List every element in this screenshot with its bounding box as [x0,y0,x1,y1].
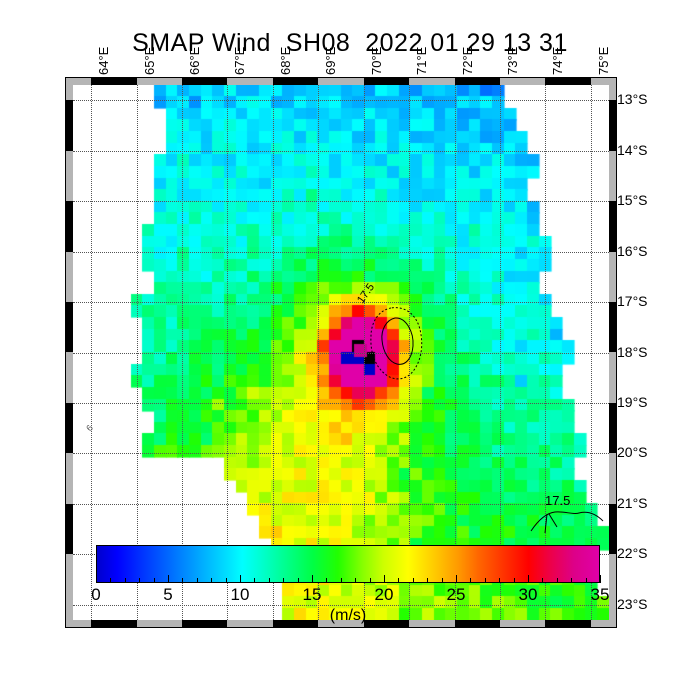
frame-border-segment [65,504,73,554]
colorbar-tick [240,575,241,583]
longitude-tick-label: 72°E [460,47,475,75]
latitude-tick-label: 15°S [617,192,648,208]
colorbar-tick [600,575,601,583]
grid-line-lat [73,151,609,152]
frame-border-segment [65,302,73,352]
colorbar-tick-label: 5 [163,585,172,605]
colorbar-minor-tick [283,578,284,583]
longitude-tick-label: 69°E [323,47,338,75]
frame-border-right [609,77,617,628]
colorbar-tick-label: 0 [91,585,100,605]
colorbar-minor-tick [370,578,371,583]
colorbar-minor-tick [182,578,183,583]
latitude-tick-label: 21°S [617,495,648,511]
colorbar-minor-tick [470,578,471,583]
grid-line-lat [73,403,609,404]
frame-border-top [65,77,617,85]
colorbar-minor-tick [226,578,227,583]
frame-border-left [65,77,73,628]
lower-right-contour-label: 17.5 [545,493,570,508]
colorbar-tick [456,575,457,583]
colorbar-minor-tick [571,578,572,583]
colorbar-minor-tick [110,578,111,583]
frame-border-segment [455,77,500,85]
colorbar-minor-tick [298,578,299,583]
frame-border-segment [609,201,617,251]
grid-line-lat [73,302,609,303]
longitude-tick-label: 68°E [278,47,293,75]
frame-border-segment [65,100,73,150]
colorbar-minor-tick [542,578,543,583]
colorbar-minor-tick [398,578,399,583]
colorbar-unit-label: (m/s) [96,607,600,625]
longitude-tick-label: 70°E [369,47,384,75]
colorbar-tick [384,575,385,583]
latitude-tick-label: 19°S [617,394,648,410]
colorbar-minor-tick [442,578,443,583]
colorbar-tick-label: 20 [375,585,394,605]
longitude-tick-label: 67°E [232,47,247,75]
frame-border-segment [609,100,617,150]
colorbar-minor-tick [197,578,198,583]
latitude-tick-label: 17°S [617,293,648,309]
frame-border-segment [609,302,617,352]
grid-line-lat [73,100,609,101]
frame-border-segment [273,77,318,85]
grid-line-lat [73,353,609,354]
colorbar-minor-tick [211,578,212,583]
latitude-tick-label: 23°S [617,596,648,612]
colorbar-minor-tick [586,578,587,583]
colorbar-minor-tick [499,578,500,583]
grid-line-lat [73,504,609,505]
colorbar-minor-tick [154,578,155,583]
longitude-tick-label: 73°E [505,47,520,75]
colorbar-tick-label: 10 [231,585,250,605]
colorbar-minor-tick [557,578,558,583]
smap-wind-figure: SMAP Wind SH08 2022 01 29 13 31 17.5 17.… [0,0,700,700]
longitude-tick-label: 65°E [142,47,157,75]
frame-border-segment [65,403,73,453]
frame-border-segment [545,77,590,85]
longitude-tick-label: 74°E [550,47,565,75]
latitude-tick-label: 13°S [617,91,648,107]
latitude-tick-label: 20°S [617,444,648,460]
longitude-tick-label: 71°E [414,47,429,75]
colorbar-tick [312,575,313,583]
plot-area: 17.5 17.5 6 [73,85,609,620]
colorbar-minor-tick [254,578,255,583]
grid-line-lat [73,453,609,454]
colorbar-tick-label: 15 [303,585,322,605]
colorbar-tick-label: 30 [519,585,538,605]
colorbar-tick [528,575,529,583]
latitude-tick-label: 14°S [617,142,648,158]
colorbar-minor-tick [125,578,126,583]
colorbar-minor-tick [139,578,140,583]
colorbar-minor-tick [269,578,270,583]
colorbar-tick [96,575,97,583]
colorbar-minor-tick [427,578,428,583]
grid-line-lat [73,201,609,202]
latitude-tick-label: 18°S [617,344,648,360]
colorbar-minor-tick [485,578,486,583]
grid-line-lat [73,252,609,253]
colorbar: 05101520253035 (m/s) [96,545,600,583]
frame-border-segment [609,504,617,554]
latitude-tick-label: 22°S [617,545,648,561]
frame-border-segment [609,403,617,453]
frame-border-segment [65,201,73,251]
frame-border-segment [91,77,136,85]
colorbar-tick [168,575,169,583]
colorbar-minor-tick [413,578,414,583]
colorbar-tick-label: 25 [447,585,466,605]
longitude-tick-label: 66°E [187,47,202,75]
colorbar-gradient [96,545,600,583]
colorbar-tick-label: 35 [591,585,610,605]
frame-border-segment [182,77,227,85]
colorbar-minor-tick [355,578,356,583]
colorbar-minor-tick [326,578,327,583]
colorbar-minor-tick [514,578,515,583]
colorbar-minor-tick [341,578,342,583]
latitude-tick-label: 16°S [617,243,648,259]
longitude-tick-label: 75°E [596,47,611,75]
frame-border-segment [364,77,409,85]
longitude-tick-label: 64°E [96,47,111,75]
